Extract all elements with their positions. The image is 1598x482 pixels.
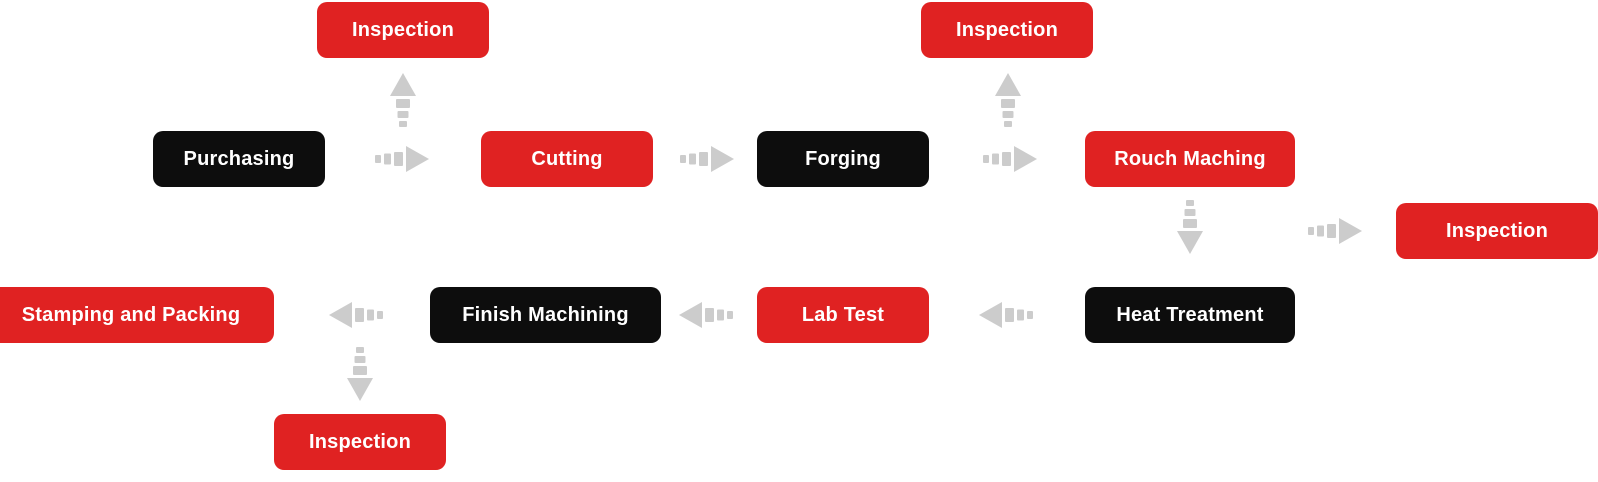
process-node-finish-machining[interactable]: Finish Machining [430,287,661,343]
process-node-label: Inspection [309,431,411,454]
process-node-stamping-and-packing[interactable]: Stamping and Packing [0,287,274,343]
process-node-inspection-4[interactable]: Inspection [274,414,446,470]
process-node-label: Inspection [956,19,1058,42]
process-node-forging[interactable]: Forging [757,131,929,187]
process-node-purchasing[interactable]: Purchasing [153,131,325,187]
process-node-rouch-maching[interactable]: Rouch Maching [1085,131,1295,187]
arrow-down-icon [1175,200,1205,257]
process-node-label: Finish Machining [462,304,629,327]
process-node-inspection-2[interactable]: Inspection [317,2,489,58]
arrow-up-icon [993,70,1023,127]
arrow-right-icon [375,144,432,174]
process-node-label: Heat Treatment [1116,304,1263,327]
process-node-label: Purchasing [184,148,295,171]
arrow-left-icon [976,300,1033,330]
arrow-right-icon [983,144,1040,174]
process-node-label: Cutting [531,148,602,171]
process-node-label: Rouch Maching [1114,148,1266,171]
process-node-cutting[interactable]: Cutting [481,131,653,187]
arrow-down-icon [345,347,375,404]
process-node-inspection-1[interactable]: Inspection [921,2,1093,58]
process-node-label: Inspection [1446,220,1548,243]
arrow-up-icon [388,70,418,127]
process-node-label: Inspection [352,19,454,42]
process-node-label: Stamping and Packing [22,304,240,327]
arrow-right-icon [680,144,737,174]
process-node-inspection-3[interactable]: Inspection [1396,203,1598,259]
process-node-lab-test[interactable]: Lab Test [757,287,929,343]
process-node-label: Lab Test [802,304,884,327]
arrow-left-icon [326,300,383,330]
arrow-left-icon [676,300,733,330]
process-node-label: Forging [805,148,881,171]
process-flow-diagram: InspectionInspectionPurchasingCuttingFor… [0,0,1598,482]
arrow-right-icon [1308,216,1365,246]
process-node-heat-treatment[interactable]: Heat Treatment [1085,287,1295,343]
